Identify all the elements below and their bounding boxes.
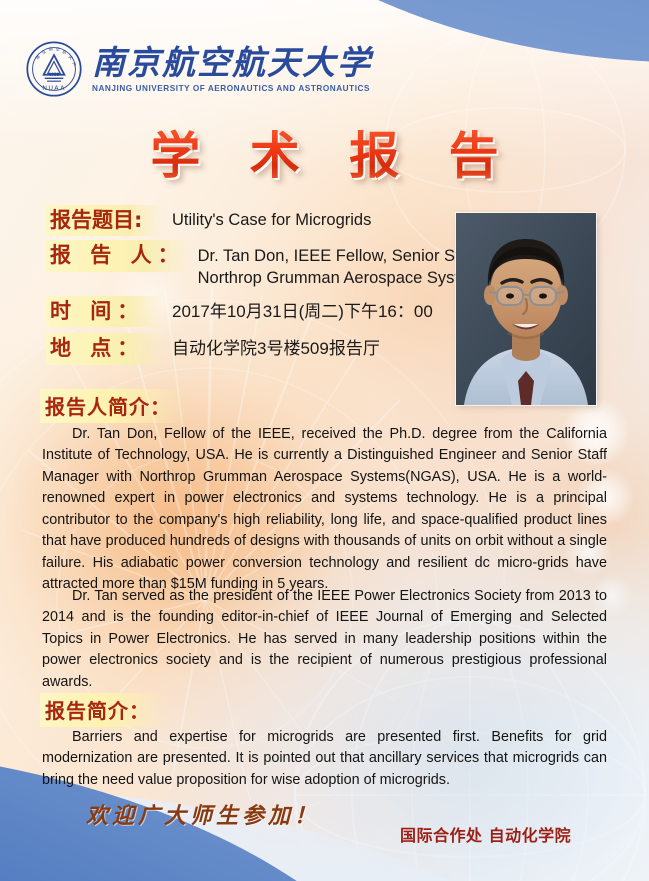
svg-text:天: 天 [67,54,73,60]
university-name-en: NANJING UNIVERSITY OF AERONAUTICS AND AS… [92,84,372,93]
label-topic: 报告题目: [46,205,164,236]
speaker-portrait-illustration [456,213,596,405]
label-speaker: 报 告 人： [46,240,190,271]
university-name-cn: 南京航空航天大学 [92,45,372,81]
svg-text:NUAA: NUAA [42,84,65,92]
welcome-message: 欢迎广大师生参加！ [86,798,320,830]
bio-paragraph-2: Dr. Tan served as the president of the I… [42,586,607,693]
university-header: 1952 NUAA 南 京 航 空 航 天 大 南京航空航天大学 NANJING… [25,40,372,98]
nuaa-emblem-icon: 1952 NUAA 南 京 航 空 航 天 大 [25,40,83,98]
bio-paragraph-1: Dr. Tan Don, Fellow of the IEEE, receive… [42,424,607,596]
svg-text:空: 空 [56,45,60,51]
speaker-photo [456,213,596,405]
svg-text:1952: 1952 [49,72,60,77]
svg-text:航: 航 [48,45,54,52]
label-time: 时 间： [46,296,164,327]
abstract-heading: 报告简介： [40,693,166,727]
organizers-label: 国际合作处 自动化学院 [400,822,571,846]
bio-heading: 报告人简介： [40,389,187,423]
abstract-paragraph-1: Barriers and expertise for microgrids ar… [42,727,607,791]
poster-root: 1952 NUAA 南 京 航 空 航 天 大 南京航空航天大学 NANJING… [0,0,649,881]
svg-text:大: 大 [71,60,78,67]
label-location: 地 点： [46,333,164,364]
page-title: 学 术 报 告 [0,116,649,188]
